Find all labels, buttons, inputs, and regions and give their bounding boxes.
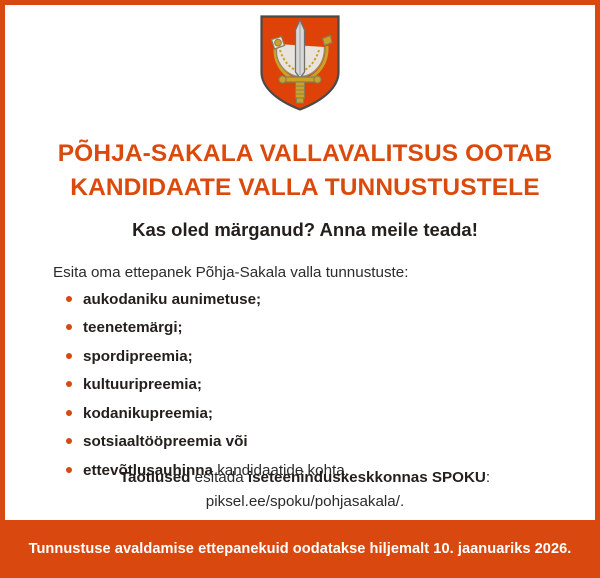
list-item: spordipreemia; — [53, 347, 558, 366]
page-subtitle: Kas oled märganud? Anna meile teada! — [35, 218, 575, 242]
coat-of-arms-shield-sword-hunting-horn-icon — [259, 14, 341, 112]
award-types-list: aukodaniku aunimetuse; teenetemärgi; spo… — [53, 290, 558, 480]
deadline-footer-bar: Tunnustuse avaldamise ettepanekuid oodat… — [0, 520, 600, 578]
apply-lead-label: Taotlused — [120, 469, 191, 486]
bullet-icon — [66, 353, 72, 359]
application-url[interactable]: piksel.ee/spoku/pohjasakala/. — [35, 490, 575, 514]
list-item: kultuuripreemia; — [53, 375, 558, 394]
bullet-icon — [66, 381, 72, 387]
list-item: kodanikupreemia; — [53, 404, 558, 423]
list-item-label: teenetemärgi; — [83, 319, 183, 336]
bullet-icon — [66, 438, 72, 444]
list-item-label: kultuuripreemia; — [83, 376, 202, 393]
page-title: PÕHJA-SAKALA VALLAVALITSUS OOTAB KANDIDA… — [35, 137, 575, 205]
announcement-poster: PÕHJA-SAKALA VALLAVALITSUS OOTAB KANDIDA… — [0, 0, 600, 578]
list-item: aukodaniku aunimetuse; — [53, 290, 558, 309]
apply-middle-text: esitada — [190, 469, 247, 486]
bullet-icon — [66, 296, 72, 302]
bullet-icon — [66, 324, 72, 330]
bullet-icon — [66, 410, 72, 416]
intro-text: Esita oma ettepanek Põhja-Sakala valla t… — [53, 263, 558, 284]
page-title-line-2: KANDIDAATE VALLA TUNNUSTUSTELE — [35, 171, 575, 205]
body-content: Esita oma ettepanek Põhja-Sakala valla t… — [53, 263, 558, 489]
list-item-label: aukodaniku aunimetuse; — [83, 291, 261, 308]
list-item-label: kodanikupreemia; — [83, 405, 213, 422]
page-title-line-1: PÕHJA-SAKALA VALLAVALITSUS OOTAB — [35, 137, 575, 171]
list-item: sotsiaaltööpreemia või — [53, 432, 558, 451]
apply-colon: : — [486, 469, 490, 486]
deadline-text: Tunnustuse avaldamise ettepanekuid oodat… — [15, 541, 586, 557]
application-instructions: Taotlused esitada iseteeninduskeskkonnas… — [35, 466, 575, 515]
list-item-label: spordipreemia; — [83, 348, 193, 365]
coat-of-arms-container — [5, 14, 595, 118]
apply-channel-label: iseteeninduskeskkonnas SPOKU — [248, 469, 486, 486]
list-item-label: sotsiaaltööpreemia või — [83, 433, 248, 450]
list-item: teenetemärgi; — [53, 318, 558, 337]
